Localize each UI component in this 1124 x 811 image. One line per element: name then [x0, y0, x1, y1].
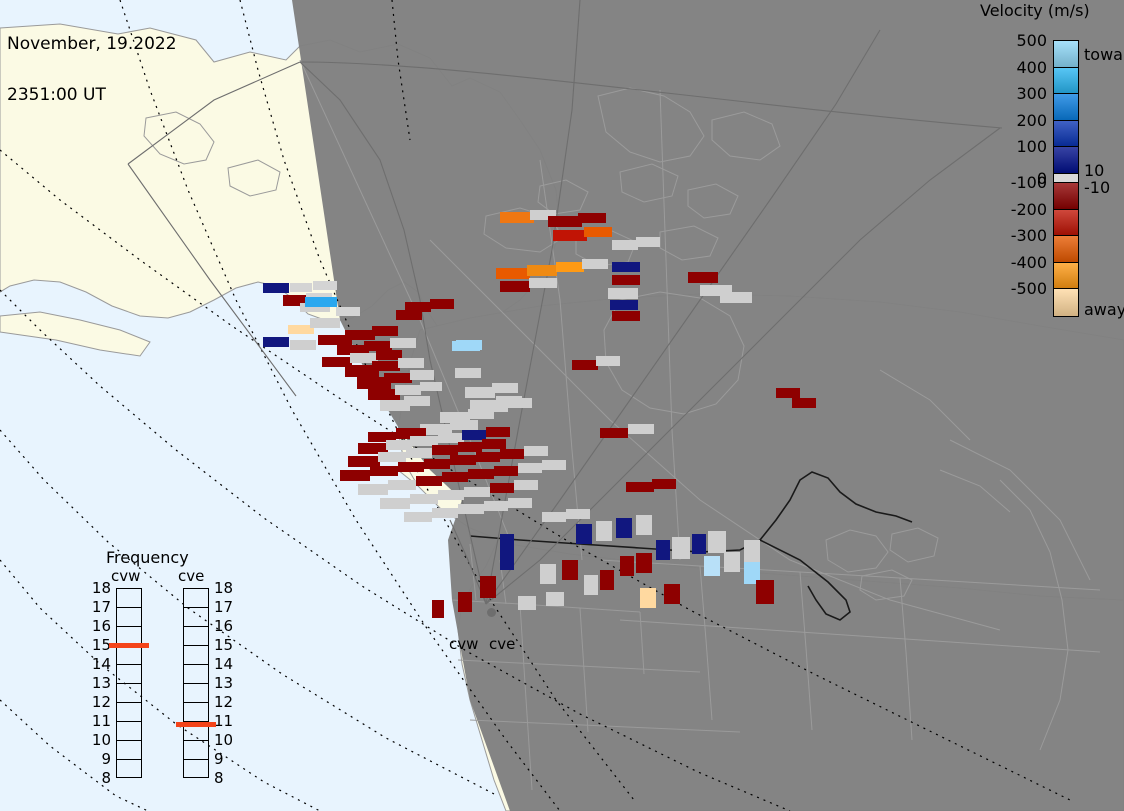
frequency-tick: 17 — [214, 598, 236, 616]
velocity-cell — [553, 230, 587, 241]
frequency-cell — [117, 684, 141, 703]
velocity-cell — [482, 402, 508, 412]
velocity-cell — [724, 552, 740, 572]
velocity-cell — [364, 341, 392, 351]
velocity-cell — [508, 398, 532, 408]
frequency-tick: 15 — [89, 636, 111, 654]
velocity-cell — [636, 515, 652, 535]
velocity-cell — [390, 338, 416, 348]
frequency-tick: 8 — [89, 769, 111, 787]
velocity-colorbar — [1053, 40, 1079, 317]
velocity-cell — [424, 459, 450, 469]
velocity-cell — [372, 361, 400, 371]
velocity-cell — [556, 262, 584, 272]
velocity-cell — [640, 588, 656, 608]
frequency-cell — [117, 703, 141, 722]
velocity-cell — [608, 288, 638, 299]
velocity-cell — [708, 531, 726, 553]
velocity-cell — [410, 370, 434, 380]
velocity-cell — [438, 490, 464, 500]
colorbar-tick: -100 — [995, 173, 1047, 192]
frequency-cell — [184, 646, 208, 665]
velocity-cell — [584, 575, 598, 595]
velocity-cell — [486, 427, 510, 437]
velocity-cell — [372, 326, 398, 336]
radar-site-marker — [487, 608, 496, 617]
frequency-column — [116, 588, 142, 778]
velocity-cell — [404, 512, 432, 522]
velocity-cell — [396, 310, 422, 320]
velocity-cell — [263, 337, 289, 347]
velocity-cell — [542, 512, 566, 522]
velocity-cell — [465, 387, 495, 398]
frequency-tick: 13 — [89, 674, 111, 692]
timestamp-time: 2351:00 UT — [7, 87, 177, 104]
velocity-cell — [529, 278, 557, 288]
velocity-cell — [340, 470, 370, 481]
velocity-cell — [494, 466, 518, 476]
timestamp: November, 19.2022 2351:00 UT — [7, 2, 177, 138]
colorbar-segment — [1054, 121, 1078, 148]
velocity-cell — [305, 297, 337, 307]
velocity-cell — [616, 518, 632, 538]
colorbar-segment — [1054, 236, 1078, 263]
velocity-cell — [398, 358, 424, 368]
colorbar-segment — [1054, 183, 1078, 210]
velocity-cell — [358, 484, 388, 495]
velocity-cell — [450, 455, 476, 465]
velocity-cell — [464, 487, 490, 497]
frequency-tick: 13 — [214, 674, 236, 692]
velocity-cell — [596, 521, 612, 541]
velocity-cell — [578, 213, 606, 223]
frequency-marker — [109, 643, 149, 648]
velocity-cell — [542, 460, 566, 470]
frequency-tick: 18 — [89, 579, 111, 597]
colorbar-segment — [1054, 94, 1078, 121]
superdarn-velocity-plot: November, 19.2022 2351:00 UT Velocity (m… — [0, 0, 1124, 811]
velocity-cell — [776, 388, 800, 398]
velocity-cell — [432, 445, 458, 455]
frequency-tick: 8 — [214, 769, 236, 787]
velocity-cell — [664, 584, 680, 604]
frequency-cell — [117, 722, 141, 741]
velocity-cell — [527, 265, 557, 276]
velocity-cell — [290, 340, 316, 350]
frequency-cell — [117, 760, 141, 779]
velocity-cell — [600, 570, 614, 590]
velocity-cell — [458, 504, 484, 514]
frequency-tick: 11 — [214, 712, 236, 730]
velocity-cell — [430, 299, 454, 309]
velocity-cell — [562, 560, 578, 580]
velocity-cell — [704, 556, 720, 576]
velocity-cell — [612, 311, 640, 321]
velocity-cell — [404, 396, 430, 406]
velocity-cell — [370, 466, 398, 476]
velocity-cell — [348, 456, 380, 467]
velocity-cell — [380, 498, 410, 509]
velocity-cell — [612, 240, 638, 250]
velocity-cell — [263, 283, 289, 293]
velocity-cell — [620, 556, 634, 576]
frequency-cell — [117, 665, 141, 684]
frequency-marker — [176, 722, 216, 727]
velocity-cell — [612, 262, 640, 272]
velocity-cell — [432, 508, 458, 518]
timestamp-date: November, 19.2022 — [7, 36, 177, 53]
velocity-cell — [410, 494, 438, 504]
colorbar-segment — [1054, 210, 1078, 237]
velocity-cell — [480, 576, 496, 598]
frequency-tick: 10 — [214, 731, 236, 749]
velocity-cell — [610, 300, 638, 310]
velocity-cell — [500, 212, 534, 223]
colorbar-tick: -400 — [995, 253, 1047, 272]
frequency-tick: 9 — [214, 750, 236, 768]
velocity-cell — [384, 373, 412, 383]
colorbar-segment — [1054, 68, 1078, 95]
velocity-cell — [290, 283, 312, 292]
velocity-cell — [546, 592, 564, 606]
velocity-cell — [438, 433, 464, 443]
colorbar-segment — [1054, 174, 1078, 183]
velocity-cell — [720, 292, 752, 303]
velocity-cell — [492, 383, 518, 393]
velocity-cell — [756, 580, 774, 604]
velocity-cell — [508, 498, 532, 508]
velocity-cell — [600, 428, 628, 438]
frequency-cell — [184, 608, 208, 627]
velocity-cell — [582, 259, 608, 269]
velocity-cell — [500, 534, 514, 552]
frequency-cell — [184, 665, 208, 684]
velocity-cell — [458, 442, 482, 452]
velocity-cell — [636, 237, 660, 247]
velocity-cell — [432, 600, 444, 618]
frequency-cell — [117, 608, 141, 627]
frequency-cell — [184, 589, 208, 608]
frequency-cell — [184, 703, 208, 722]
frequency-tick: 10 — [89, 731, 111, 749]
velocity-cell — [490, 483, 514, 493]
velocity-cell — [458, 592, 472, 612]
velocity-cell — [456, 340, 482, 350]
colorbar-segment — [1054, 147, 1078, 174]
velocity-cell — [500, 449, 524, 459]
velocity-cell — [450, 420, 478, 430]
velocity-cell — [310, 318, 340, 328]
frequency-tick: 12 — [89, 693, 111, 711]
velocity-cell — [514, 480, 538, 490]
velocity-cell — [672, 537, 690, 559]
velocity-cell — [484, 501, 508, 511]
colorbar-segment — [1054, 289, 1078, 316]
colorbar-away-label: away — [1084, 300, 1124, 319]
velocity-cell — [395, 385, 421, 395]
velocity-cell — [378, 452, 406, 462]
frequency-tick: 11 — [89, 712, 111, 730]
velocity-cell — [518, 596, 536, 610]
velocity-cell — [482, 439, 506, 449]
frequency-tick: 14 — [89, 655, 111, 673]
velocity-cell — [636, 553, 652, 573]
velocity-cell — [406, 448, 432, 458]
velocity-cell — [584, 227, 612, 237]
frequency-cell — [184, 760, 208, 779]
velocity-cell — [345, 330, 375, 340]
colorbar-tick: 200 — [995, 111, 1047, 130]
velocity-cell — [626, 482, 654, 492]
velocity-cell — [462, 430, 486, 440]
frequency-tick: 18 — [214, 579, 236, 597]
colorbar-tick: 500 — [995, 31, 1047, 50]
colorbar-title: Velocity (m/s) — [980, 1, 1090, 20]
colorbar-tick: 300 — [995, 84, 1047, 103]
frequency-cell — [184, 627, 208, 646]
velocity-cell — [744, 540, 760, 562]
frequency-tick: 17 — [89, 598, 111, 616]
velocity-cell — [792, 398, 816, 408]
velocity-cell — [476, 452, 500, 462]
colorbar-segment — [1054, 41, 1078, 68]
velocity-cell — [416, 476, 442, 486]
colorbar-tick: 100 — [995, 137, 1047, 156]
frequency-cell — [117, 741, 141, 760]
site-label-cve: cve — [489, 635, 515, 653]
velocity-cell — [500, 281, 530, 292]
colorbar-tick: -500 — [995, 279, 1047, 298]
velocity-cell — [540, 564, 556, 584]
velocity-cell — [566, 509, 590, 519]
velocity-cell — [572, 360, 598, 370]
velocity-cell — [336, 307, 360, 316]
velocity-cell — [410, 436, 438, 446]
velocity-cell — [524, 446, 548, 456]
site-label-cvw: cvw — [449, 635, 478, 653]
velocity-cell — [500, 552, 514, 570]
velocity-cell — [576, 524, 592, 544]
colorbar-toward-label: toward — [1084, 45, 1124, 64]
frequency-column-name: cvw — [111, 567, 140, 585]
frequency-tick: 9 — [89, 750, 111, 768]
colorbar-tick: 400 — [995, 58, 1047, 77]
velocity-cell — [692, 534, 706, 554]
frequency-cell — [184, 684, 208, 703]
frequency-tick: 12 — [214, 693, 236, 711]
frequency-tick: 15 — [214, 636, 236, 654]
velocity-cell — [442, 472, 468, 482]
velocity-cell — [596, 356, 620, 366]
frequency-tick: 14 — [214, 655, 236, 673]
frequency-cell — [184, 741, 208, 760]
colorbar-zero-low-label: -10 — [1084, 178, 1110, 197]
velocity-cell — [688, 272, 718, 283]
velocity-cell — [468, 469, 494, 479]
velocity-cell — [518, 463, 542, 473]
frequency-cell — [117, 589, 141, 608]
velocity-cell — [612, 275, 640, 285]
colorbar-segment — [1054, 263, 1078, 290]
velocity-cell — [656, 540, 670, 560]
frequency-tick: 16 — [89, 617, 111, 635]
velocity-cell — [496, 268, 530, 279]
frequency-cell — [117, 646, 141, 665]
velocity-cell — [455, 368, 481, 378]
velocity-cell — [398, 462, 424, 472]
velocity-cell — [652, 479, 676, 489]
velocity-cell — [388, 480, 416, 490]
frequency-title: Frequency — [106, 548, 189, 567]
colorbar-tick: -200 — [995, 200, 1047, 219]
velocity-cell — [313, 281, 337, 290]
velocity-cell — [628, 424, 654, 434]
frequency-tick: 16 — [214, 617, 236, 635]
frequency-column-name: cve — [178, 567, 204, 585]
colorbar-tick: -300 — [995, 226, 1047, 245]
frequency-column — [183, 588, 209, 778]
velocity-cell — [420, 382, 442, 391]
velocity-cell — [548, 216, 582, 227]
